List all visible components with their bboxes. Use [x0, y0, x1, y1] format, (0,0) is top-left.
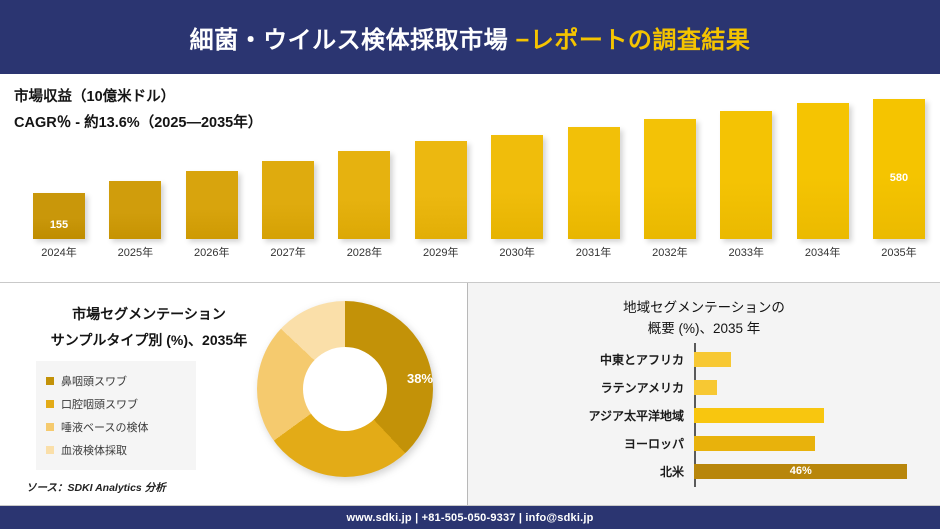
region-label: アジア太平洋地域 [496, 407, 692, 424]
region-title-line-2: 概要 (%)、2035 年 [468, 318, 940, 339]
page-footer: www.sdki.jp | +81-505-050-9337 | info@sd… [0, 506, 940, 529]
revenue-bar-value: 580 [890, 172, 908, 184]
revenue-bar-column [486, 84, 548, 239]
region-row: ヨーロッパ [496, 435, 926, 452]
region-bar [694, 380, 717, 395]
page-title-accent: −レポートの調査結果 [515, 27, 750, 54]
revenue-axis-label: 2030年 [486, 244, 548, 260]
region-bar-track [694, 408, 926, 423]
revenue-axis-label: 2035年 [868, 244, 930, 260]
region-label: ラテンアメリカ [496, 379, 692, 396]
segmentation-panel: 市場セグメンテーション サンプルタイプ別 (%)、2035年 鼻咽頭スワブ口腔咽… [0, 283, 468, 505]
legend-label: 血液検体採取 [61, 442, 127, 458]
page-title: 細菌・ウイルス検体採取市場 −レポートの調査結果 [190, 20, 751, 55]
segmentation-title: 市場セグメンテーション サンプルタイプ別 (%)、2035年 [24, 301, 274, 353]
revenue-bar [720, 111, 772, 239]
revenue-bar-column [257, 84, 319, 239]
region-label: 北米 [496, 463, 692, 480]
revenue-axis-label: 2031年 [563, 244, 625, 260]
revenue-axis-labels: 2024年2025年2026年2027年2028年2029年2030年2031年… [28, 244, 930, 260]
legend-swatch-icon [46, 423, 54, 431]
region-bar-track [694, 380, 926, 395]
region-bar [694, 436, 815, 451]
revenue-axis-label: 2025年 [104, 244, 166, 260]
revenue-bar-column [410, 84, 472, 239]
revenue-bar [644, 119, 696, 239]
footer-contact: www.sdki.jp | +81-505-050-9337 | info@sd… [346, 512, 593, 524]
revenue-axis-label: 2026年 [181, 244, 243, 260]
region-bars: 中東とアフリカラテンアメリカアジア太平洋地域ヨーロッパ北米46% [496, 345, 926, 485]
page-title-main: 細菌・ウイルス検体採取市場 [190, 27, 516, 54]
revenue-axis-label: 2024年 [28, 244, 90, 260]
revenue-bar [491, 135, 543, 239]
revenue-bar-column [715, 84, 777, 239]
region-row: アジア太平洋地域 [496, 407, 926, 424]
legend-label: 口腔咽頭スワブ [61, 396, 138, 412]
revenue-subtitle: 市場収益（10億米ドル） CAGR％ - 約13.6%（2025―2035年） [14, 84, 262, 136]
revenue-bar [109, 181, 161, 239]
region-bar-track [694, 352, 926, 367]
region-panel: 地域セグメンテーションの 概要 (%)、2035 年 中東とアフリカラテンアメリ… [468, 283, 940, 505]
segmentation-donut-chart [257, 301, 433, 477]
donut-slice-label: 38% [407, 371, 433, 386]
revenue-bar [568, 127, 620, 239]
region-bar-value: 46% [790, 465, 812, 477]
region-row: 北米46% [496, 463, 926, 480]
legend-item: 口腔咽頭スワブ [46, 392, 186, 415]
donut-hole [303, 347, 387, 431]
region-label: ヨーロッパ [496, 435, 692, 452]
region-bar [694, 408, 824, 423]
legend-item: 血液検体採取 [46, 438, 186, 461]
legend-label: 唾液ベースの検体 [61, 419, 148, 435]
region-bar-track: 46% [694, 464, 926, 479]
revenue-bar-column [563, 84, 625, 239]
revenue-axis-label: 2027年 [257, 244, 319, 260]
revenue-bar-value: 155 [50, 219, 68, 231]
region-row: 中東とアフリカ [496, 351, 926, 368]
region-label: 中東とアフリカ [496, 351, 692, 368]
segmentation-title-line-2: サンプルタイプ別 (%)、2035年 [24, 327, 274, 353]
segmentation-donut-wrap: 38% [257, 301, 445, 489]
legend-swatch-icon [46, 400, 54, 408]
revenue-axis-label: 2034年 [792, 244, 854, 260]
revenue-axis-label: 2033年 [715, 244, 777, 260]
revenue-bar [797, 103, 849, 239]
revenue-subtitle-line-2: CAGR％ - 約13.6%（2025―2035年） [14, 110, 262, 136]
region-bar-track [694, 436, 926, 451]
revenue-axis-label: 2032年 [639, 244, 701, 260]
bottom-panels: 市場セグメンテーション サンプルタイプ別 (%)、2035年 鼻咽頭スワブ口腔咽… [0, 282, 940, 506]
revenue-bar [262, 161, 314, 239]
revenue-bar: 155 [33, 193, 85, 239]
source-note: ソース：SDKI Analytics 分析 [26, 480, 166, 495]
page-header: 細菌・ウイルス検体採取市場 −レポートの調査結果 [0, 0, 940, 74]
revenue-bar-column [639, 84, 701, 239]
revenue-bar-column [792, 84, 854, 239]
region-title: 地域セグメンテーションの 概要 (%)、2035 年 [468, 297, 940, 339]
segmentation-title-line-1: 市場セグメンテーション [24, 301, 274, 327]
region-row: ラテンアメリカ [496, 379, 926, 396]
revenue-bar-column: 580 [868, 84, 930, 239]
revenue-bar [415, 141, 467, 239]
legend-swatch-icon [46, 446, 54, 454]
segmentation-legend: 鼻咽頭スワブ口腔咽頭スワブ唾液ベースの検体血液検体採取 [36, 361, 196, 470]
revenue-subtitle-line-1: 市場収益（10億米ドル） [14, 84, 262, 110]
revenue-bar: 580 [873, 99, 925, 239]
revenue-bar-column [333, 84, 395, 239]
legend-swatch-icon [46, 377, 54, 385]
region-bar: 46% [694, 464, 907, 479]
region-bar [694, 352, 731, 367]
region-title-line-1: 地域セグメンテーションの [468, 297, 940, 318]
legend-item: 唾液ベースの検体 [46, 415, 186, 438]
revenue-bar [186, 171, 238, 239]
legend-item: 鼻咽頭スワブ [46, 369, 186, 392]
revenue-chart-section: 市場収益（10億米ドル） CAGR％ - 約13.6%（2025―2035年） … [0, 74, 940, 281]
revenue-axis-label: 2029年 [410, 244, 472, 260]
region-bar-chart: 中東とアフリカラテンアメリカアジア太平洋地域ヨーロッパ北米46% [496, 343, 926, 491]
revenue-axis-label: 2028年 [333, 244, 395, 260]
legend-label: 鼻咽頭スワブ [61, 373, 127, 389]
revenue-bar [338, 151, 390, 239]
